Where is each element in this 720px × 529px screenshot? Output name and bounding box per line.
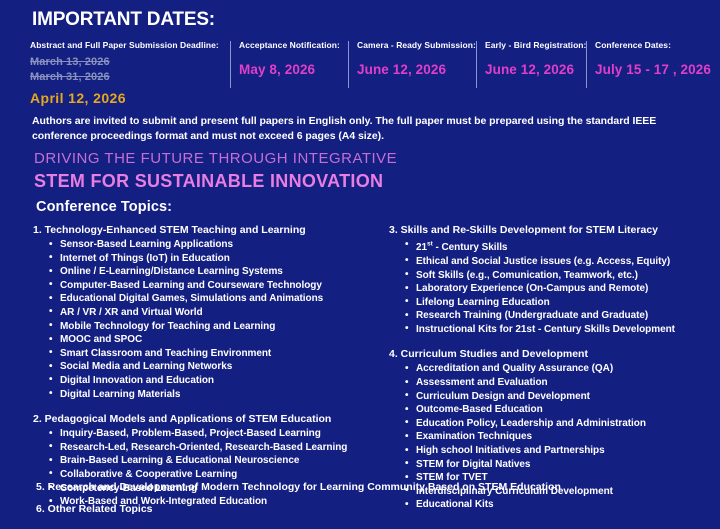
list-item: Collaborative & Cooperative Learning (49, 468, 378, 482)
list-item: Laboratory Experience (On-Campus and Rem… (405, 282, 714, 296)
list-item: Mobile Technology for Teaching and Learn… (49, 320, 378, 334)
list-item: Accreditation and Quality Assurance (QA) (405, 362, 714, 376)
topics-column-left: 1. Technology-Enhanced STEM Teaching and… (33, 223, 378, 509)
date-label: Acceptance Notification: (239, 40, 342, 51)
conference-theme-line-2: STEM FOR SUSTAINABLE INNOVATION (34, 171, 383, 192)
list-item: Inquiry-Based, Problem-Based, Project-Ba… (49, 427, 378, 441)
topic-section-title: 2. Pedagogical Models and Applications o… (33, 412, 378, 426)
conference-topics-heading: Conference Topics: (36, 199, 172, 215)
cell-divider (586, 41, 587, 88)
list-item: MOOC and SPOC (49, 333, 378, 347)
topic-section-title: 1. Technology-Enhanced STEM Teaching and… (33, 223, 378, 237)
date-label: Camera - Ready Submission: (357, 40, 470, 51)
topic-section-title: 3. Skills and Re-Skills Development for … (389, 223, 714, 237)
topic-section-1: 1. Technology-Enhanced STEM Teaching and… (33, 223, 378, 401)
topic-list: Sensor-Based Learning Applications Inter… (33, 238, 378, 401)
date-cell-submission-deadline: Abstract and Full Paper Submission Deadl… (30, 40, 230, 106)
date-value-struck: March 13, 2026 (30, 55, 224, 70)
list-item: Smart Classroom and Teaching Environment (49, 347, 378, 361)
list-item: Lifelong Learning Education (405, 296, 714, 310)
list-item: Internet of Things (IoT) in Education (49, 252, 378, 266)
date-label: Conference Dates: (595, 40, 690, 51)
topic-section-5: 5. Research and Development of Modern Te… (36, 481, 561, 493)
list-item: Education Policy, Leadership and Adminis… (405, 417, 714, 431)
conference-theme-line-1: DRIVING THE FUTURE THROUGH INTEGRATIVE (34, 150, 397, 167)
list-item: Instructional Kits for 21st - Century Sk… (405, 323, 714, 337)
topic-section-title: 4. Curriculum Studies and Development (389, 347, 714, 361)
topics-column-right: 3. Skills and Re-Skills Development for … (389, 223, 714, 512)
page-title: IMPORTANT DATES: (32, 9, 215, 31)
list-item: Digital Innovation and Education (49, 374, 378, 388)
list-item: Brain-Based Learning & Educational Neuro… (49, 454, 378, 468)
list-item: Outcome-Based Education (405, 403, 714, 417)
list-item: High school Initiatives and Partnerships (405, 444, 714, 458)
cell-divider (230, 41, 231, 88)
date-value-current: April 12, 2026 (30, 90, 224, 106)
date-cell-early-bird-registration: Early - Bird Registration: June 12, 2026 (476, 40, 586, 77)
list-item: Digital Learning Materials (49, 388, 378, 402)
date-value: June 12, 2026 (485, 62, 580, 77)
authors-submission-note: Authors are invited to submit and presen… (32, 114, 698, 144)
conference-call-for-papers-poster: { "colors": { "background": "#141f82", "… (0, 0, 720, 529)
list-item: STEM for Digital Natives (405, 458, 714, 472)
list-item-text: 21st - Century Skills (416, 242, 507, 253)
list-item: Online / E-Learning/Distance Learning Sy… (49, 265, 378, 279)
cell-divider (348, 41, 349, 88)
list-item: Examination Techniques (405, 430, 714, 444)
date-value: July 15 - 17 , 2026 (595, 62, 690, 77)
list-item: Educational Kits (405, 498, 714, 512)
date-value: June 12, 2026 (357, 62, 470, 77)
list-item: Soft Skills (e.g., Comunication, Teamwor… (405, 269, 714, 283)
ordinal-suffix: st (427, 241, 433, 248)
topic-section-2: 2. Pedagogical Models and Applications o… (33, 412, 378, 509)
list-item: Computer-Based Learning and Courseware T… (49, 279, 378, 293)
list-item: Research Training (Undergraduate and Gra… (405, 309, 714, 323)
list-item: Social Media and Learning Networks (49, 360, 378, 374)
topic-section-6: 6. Other Related Topics (36, 503, 153, 515)
topic-list: Inquiry-Based, Problem-Based, Project-Ba… (33, 427, 378, 509)
list-item: Assessment and Evaluation (405, 376, 714, 390)
list-item: AR / VR / XR and Virtual World (49, 306, 378, 320)
date-cell-camera-ready: Camera - Ready Submission: June 12, 2026 (348, 40, 476, 77)
list-item: Sensor-Based Learning Applications (49, 238, 378, 252)
list-item: 21st - Century Skills (405, 238, 714, 255)
list-item: Ethical and Social Justice issues (e.g. … (405, 255, 714, 269)
date-label: Abstract and Full Paper Submission Deadl… (30, 40, 224, 51)
date-cell-conference-dates: Conference Dates: July 15 - 17 , 2026 (586, 40, 696, 77)
date-value: May 8, 2026 (239, 62, 342, 77)
important-dates-row: Abstract and Full Paper Submission Deadl… (30, 40, 696, 106)
list-item: Curriculum Design and Development (405, 390, 714, 404)
list-item: Educational Digital Games, Simulations a… (49, 292, 378, 306)
date-cell-acceptance-notification: Acceptance Notification: May 8, 2026 (230, 40, 348, 77)
topic-list: 21st - Century Skills Ethical and Social… (389, 238, 714, 336)
cell-divider (476, 41, 477, 88)
date-label: Early - Bird Registration: (485, 40, 580, 51)
list-item: Research-Led, Research-Oriented, Researc… (49, 441, 378, 455)
topic-section-3: 3. Skills and Re-Skills Development for … (389, 223, 714, 336)
date-value-struck: March 31, 2026 (30, 70, 224, 85)
